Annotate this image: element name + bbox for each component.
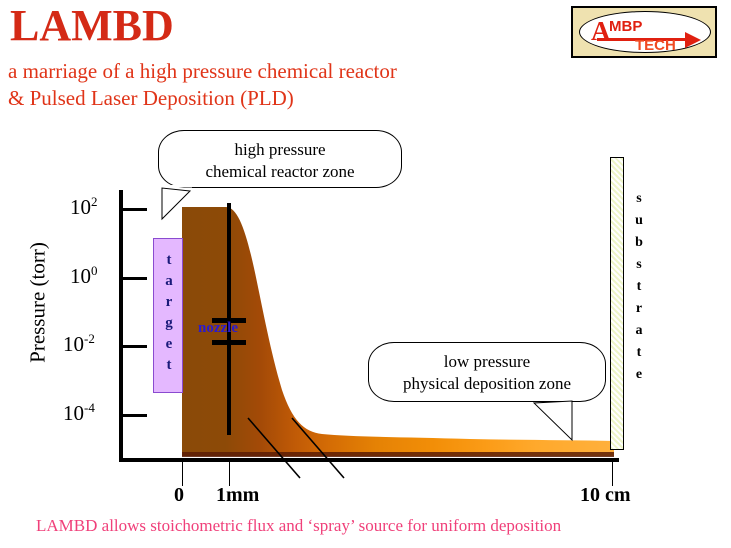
- target-letter: a: [154, 271, 184, 292]
- target-label: t a r g e t: [154, 250, 184, 376]
- target-letter: t: [154, 250, 184, 271]
- x-tick-label-1mm: 1mm: [216, 484, 259, 507]
- logo-letter-a: A: [591, 18, 611, 45]
- x-tick-label-10cm: 10 cm: [580, 484, 631, 507]
- footer-caption: LAMBD allows stoichometric flux and ‘spr…: [36, 516, 561, 536]
- ambp-tech-logo: A MBP TECH: [571, 6, 717, 58]
- high-pressure-callout: high pressure chemical reactor zone: [158, 130, 402, 188]
- target-letter: g: [154, 313, 184, 334]
- x-tick-mark: [612, 462, 613, 486]
- substrate-letter: s: [628, 254, 650, 276]
- substrate-letter: t: [628, 342, 650, 364]
- x-axis-line: [119, 458, 619, 462]
- y-axis-label: Pressure (torr): [26, 213, 51, 393]
- nozzle-label: nozzle: [198, 320, 238, 337]
- y-tick-mantissa: 10: [70, 195, 91, 219]
- low-pressure-callout: low pressure physical deposition zone: [368, 342, 606, 402]
- substrate-label: s u b s t r a t e: [628, 188, 650, 386]
- substrate-letter: b: [628, 232, 650, 254]
- target-block: t a r g e t: [153, 238, 183, 393]
- x-tick-mark: [182, 462, 183, 486]
- logo-text-mbp: MBP: [609, 19, 642, 34]
- target-letter: t: [154, 355, 184, 376]
- y-tick-mantissa: 10: [63, 401, 84, 425]
- slide-canvas: LAMBD a marriage of a high pressure chem…: [0, 0, 731, 548]
- substrate-letter: a: [628, 320, 650, 342]
- substrate-letter: e: [628, 364, 650, 386]
- page-title: LAMBD: [10, 4, 174, 48]
- substrate-letter: u: [628, 210, 650, 232]
- x-tick-label-origin: 0: [174, 484, 184, 507]
- target-letter: e: [154, 334, 184, 355]
- nozzle-plate-lower: [212, 340, 246, 345]
- logo-arrowhead-icon: [685, 32, 701, 48]
- substrate-block: [610, 157, 624, 450]
- y-tick-exponent: -4: [84, 400, 95, 415]
- target-letter: r: [154, 292, 184, 313]
- substrate-letter: s: [628, 188, 650, 210]
- axis-break-mark: [248, 418, 300, 478]
- substrate-letter: r: [628, 298, 650, 320]
- axis-break-mark: [292, 418, 344, 478]
- page-subtitle: a marriage of a high pressure chemical r…: [8, 58, 397, 112]
- substrate-letter: t: [628, 276, 650, 298]
- logo-text-tech: TECH: [635, 38, 676, 53]
- y-tick-label: 10-4: [63, 400, 731, 426]
- x-tick-mark: [229, 462, 230, 486]
- y-tick-exponent: 2: [91, 194, 98, 209]
- y-tick-exponent: -2: [84, 331, 95, 346]
- plume-baseline: [182, 452, 614, 457]
- y-tick-mantissa: 10: [63, 332, 84, 356]
- y-tick-mantissa: 10: [70, 264, 91, 288]
- low-callout-tail: [500, 398, 590, 444]
- y-tick-exponent: 0: [91, 263, 98, 278]
- high-callout-tail: [150, 185, 230, 225]
